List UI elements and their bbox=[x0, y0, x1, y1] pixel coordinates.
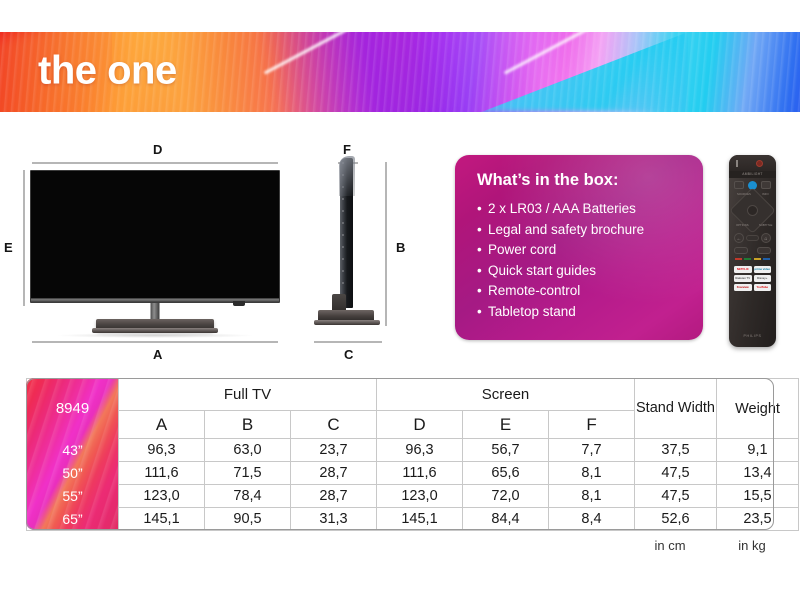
back-arrow-icon: ← bbox=[734, 233, 744, 243]
tv-ir-receiver-icon bbox=[233, 301, 245, 306]
group-header-full-tv: Full TV bbox=[119, 379, 377, 411]
channel-rocker-icon bbox=[757, 247, 771, 254]
dimension-label-a: A bbox=[153, 347, 162, 362]
box-list-item: •Quick start guides bbox=[477, 261, 703, 282]
subheader-c: C bbox=[291, 411, 377, 439]
cell-c: 28,7 bbox=[291, 485, 377, 508]
dimension-label-e: E bbox=[4, 240, 13, 255]
bullet-icon: • bbox=[477, 199, 488, 220]
app-button: Freeview Play bbox=[734, 284, 752, 291]
bullet-icon: • bbox=[477, 240, 488, 261]
cell-stand-width: 52,6 bbox=[635, 508, 717, 531]
tv-screen-panel bbox=[30, 170, 280, 303]
remote-volume-channel-row bbox=[734, 247, 771, 254]
table-units-row: in cm in kg bbox=[26, 538, 774, 556]
app-button: prime video bbox=[754, 266, 772, 273]
cell-e: 72,0 bbox=[463, 485, 549, 508]
tv-side-top-curve bbox=[339, 156, 355, 196]
box-item-label: Quick start guides bbox=[488, 263, 596, 278]
dimension-label-f: F bbox=[343, 142, 351, 157]
tv-front-view: D E A bbox=[30, 144, 290, 344]
home-icon: ⌂ bbox=[761, 233, 771, 243]
banner-title: the one bbox=[38, 49, 177, 94]
cell-e: 84,4 bbox=[463, 508, 549, 531]
measure-line-b bbox=[385, 162, 387, 326]
remote-top-section bbox=[729, 155, 776, 171]
remote-color-buttons bbox=[735, 258, 770, 261]
dpad-label-info: INFO bbox=[762, 192, 769, 196]
cell-b: 78,4 bbox=[205, 485, 291, 508]
cell-f: 8,1 bbox=[549, 485, 635, 508]
header-stand-width: Stand Width bbox=[635, 379, 717, 439]
bullet-icon: • bbox=[477, 281, 488, 302]
unit-length: in cm bbox=[629, 538, 711, 553]
dpad-label-options: OPTIONS bbox=[736, 223, 749, 227]
product-spec-sheet: the one D E A F bbox=[0, 0, 800, 600]
cell-weight: 9,1 bbox=[717, 439, 799, 462]
group-header-screen: Screen bbox=[377, 379, 635, 411]
source-icon bbox=[734, 181, 744, 189]
cell-c: 28,7 bbox=[291, 462, 377, 485]
cell-a: 96,3 bbox=[119, 439, 205, 462]
cell-e: 65,6 bbox=[463, 462, 549, 485]
box-item-label: Remote-control bbox=[488, 283, 580, 298]
model-number-cell: 8949 bbox=[27, 379, 119, 439]
tv-drop-shadow bbox=[55, 333, 255, 338]
cell-a: 123,0 bbox=[119, 485, 205, 508]
cell-stand-width: 47,5 bbox=[635, 485, 717, 508]
cell-d: 111,6 bbox=[377, 462, 463, 485]
ok-button-icon bbox=[747, 205, 758, 216]
blue-button-icon bbox=[763, 258, 770, 260]
cell-b: 63,0 bbox=[205, 439, 291, 462]
measure-line-c bbox=[314, 341, 382, 343]
box-panel-title: What’s in the box: bbox=[477, 171, 703, 190]
tv-guide-icon bbox=[746, 235, 759, 241]
yellow-button-icon bbox=[754, 258, 761, 260]
table-row: 43” 96,3 63,0 23,7 96,3 56,7 7,7 37,5 9,… bbox=[27, 439, 799, 462]
remote-app-shortcuts: NETFLIX prime video Rakuten TV Disney+ F… bbox=[734, 266, 771, 291]
dpad-label-sources: SOURCES bbox=[737, 192, 751, 196]
app-button: Disney+ bbox=[754, 275, 772, 282]
settings-icon bbox=[761, 181, 771, 189]
dimension-label-c: C bbox=[344, 347, 353, 362]
volume-rocker-icon bbox=[734, 247, 748, 254]
ambilight-label: AMBILIGHT bbox=[729, 171, 776, 178]
box-list-item: •Power cord bbox=[477, 240, 703, 261]
cell-b: 90,5 bbox=[205, 508, 291, 531]
row-size-label: 65” bbox=[27, 508, 119, 531]
power-icon bbox=[756, 160, 763, 167]
app-button: Rakuten TV bbox=[734, 275, 752, 282]
remote-control-image: AMBILIGHT SOURCES INFO OPTIONS SUBTITLE … bbox=[729, 155, 776, 347]
box-list-item: •Tabletop stand bbox=[477, 302, 703, 323]
remote-brand-label: PHILIPS bbox=[729, 334, 776, 338]
box-list-item: •Remote-control bbox=[477, 281, 703, 302]
app-button: NETFLIX bbox=[734, 266, 752, 273]
cell-b: 71,5 bbox=[205, 462, 291, 485]
table-row: 55” 123,0 78,4 28,7 123,0 72,0 8,1 47,5 … bbox=[27, 485, 799, 508]
box-list-item: •2 x LR03 / AAA Batteries bbox=[477, 199, 703, 220]
bullet-icon: • bbox=[477, 261, 488, 282]
measure-line-d bbox=[32, 162, 278, 164]
cell-d: 123,0 bbox=[377, 485, 463, 508]
remote-nav-row: ← ⌂ bbox=[734, 233, 771, 243]
cell-weight: 13,4 bbox=[717, 462, 799, 485]
hero-banner: the one bbox=[0, 32, 800, 112]
app-button: YouTube bbox=[754, 284, 772, 291]
cell-d: 96,3 bbox=[377, 439, 463, 462]
box-item-label: Power cord bbox=[488, 242, 556, 257]
subheader-a: A bbox=[119, 411, 205, 439]
cell-f: 8,1 bbox=[549, 462, 635, 485]
box-item-label: Tabletop stand bbox=[488, 304, 576, 319]
cell-f: 7,7 bbox=[549, 439, 635, 462]
cell-a: 145,1 bbox=[119, 508, 205, 531]
cell-e: 56,7 bbox=[463, 439, 549, 462]
whats-in-the-box-panel: What’s in the box: •2 x LR03 / AAA Batte… bbox=[455, 155, 703, 340]
cell-c: 31,3 bbox=[291, 508, 377, 531]
cell-stand-width: 37,5 bbox=[635, 439, 717, 462]
cell-weight: 23,5 bbox=[717, 508, 799, 531]
box-list-item: •Legal and safety brochure bbox=[477, 220, 703, 241]
row-size-label: 50” bbox=[27, 462, 119, 485]
row-size-label: 43” bbox=[27, 439, 119, 462]
tv-side-stand-foot bbox=[314, 320, 380, 325]
dimension-label-d: D bbox=[153, 142, 162, 157]
box-item-label: 2 x LR03 / AAA Batteries bbox=[488, 201, 636, 216]
dpad-label-subtitle: SUBTITLE bbox=[759, 223, 772, 227]
measure-line-e bbox=[23, 170, 25, 306]
green-button-icon bbox=[744, 258, 751, 260]
subheader-f: F bbox=[549, 411, 635, 439]
subheader-b: B bbox=[205, 411, 291, 439]
bullet-icon: • bbox=[477, 302, 488, 323]
table-group-header-row: 8949 Full TV Screen Stand Width Weight bbox=[27, 379, 799, 411]
measure-line-a bbox=[32, 341, 278, 343]
subheader-e: E bbox=[463, 411, 549, 439]
specifications-table: 8949 Full TV Screen Stand Width Weight A… bbox=[26, 378, 774, 530]
cell-stand-width: 47,5 bbox=[635, 462, 717, 485]
table-row: 50” 111,6 71,5 28,7 111,6 65,6 8,1 47,5 … bbox=[27, 462, 799, 485]
unit-weight: in kg bbox=[711, 538, 793, 553]
box-item-label: Legal and safety brochure bbox=[488, 222, 644, 237]
header-weight: Weight bbox=[717, 379, 799, 439]
dimension-label-b: B bbox=[396, 240, 405, 255]
table-row: 65” 145,1 90,5 31,3 145,1 84,4 8,4 52,6 … bbox=[27, 508, 799, 531]
cell-weight: 15,5 bbox=[717, 485, 799, 508]
tv-stand-neck bbox=[151, 303, 160, 319]
row-size-label: 55” bbox=[27, 485, 119, 508]
remote-standby-line-icon bbox=[736, 160, 738, 167]
subheader-d: D bbox=[377, 411, 463, 439]
bullet-icon: • bbox=[477, 220, 488, 241]
red-button-icon bbox=[735, 258, 742, 260]
tv-side-view: F B C bbox=[312, 144, 440, 344]
cell-d: 145,1 bbox=[377, 508, 463, 531]
cell-f: 8,4 bbox=[549, 508, 635, 531]
cell-c: 23,7 bbox=[291, 439, 377, 462]
cell-a: 111,6 bbox=[119, 462, 205, 485]
